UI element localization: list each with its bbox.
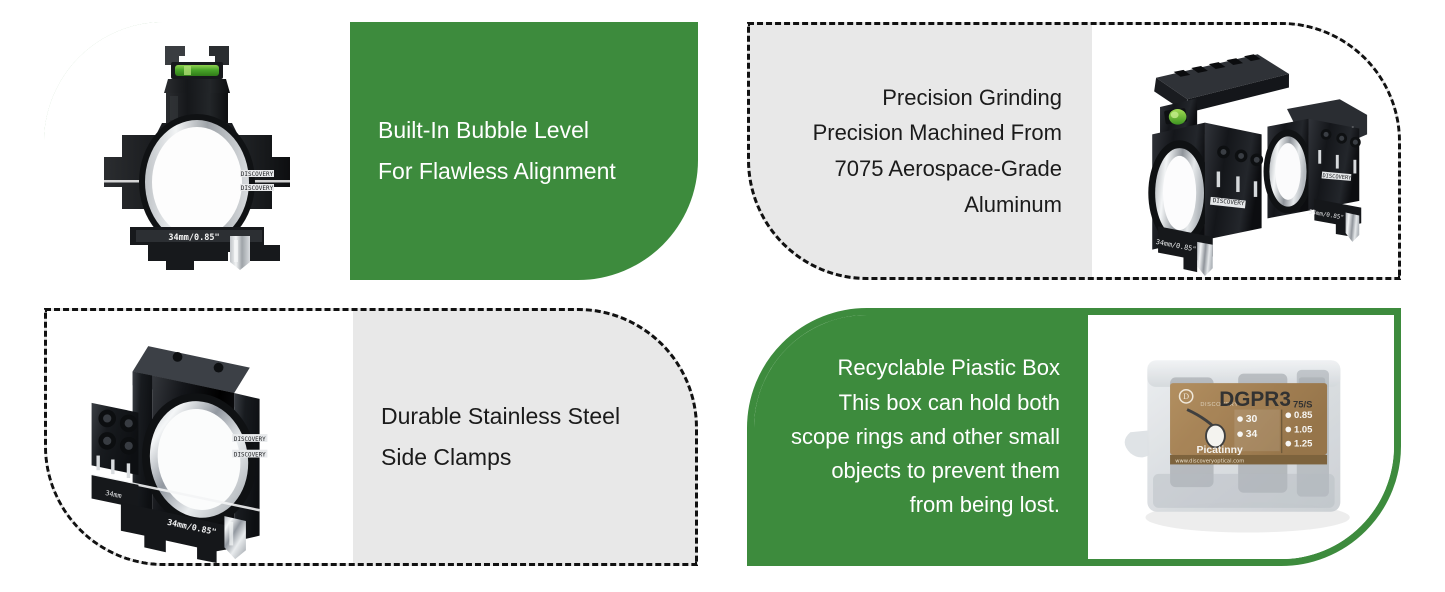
feature-grid: DISCOVERY DISCOVERY 34mm/0.85" Built-In … (0, 0, 1445, 592)
scope-ring-pair-illustration: DISCOVERY 34mm/0.85" (1092, 25, 1398, 277)
svg-text:DISCOVERY: DISCOVERY (241, 171, 274, 178)
caption-line: Durable Stainless Steel (381, 396, 620, 437)
caption-line: from being lost. (910, 488, 1060, 522)
caption-line: Side Clamps (381, 437, 511, 478)
plastic-box-illustration: D DISCOVERY DGPR3 75/S Picatinny 30 (1088, 315, 1394, 559)
caption-line: Built-In Bubble Level (378, 110, 589, 151)
caption-recyclable-box: Recyclable Piastic Box This box can hold… (747, 308, 1088, 566)
caption-line: This box can hold both (839, 386, 1060, 420)
caption-line: For Flawless Alignment (378, 151, 616, 192)
svg-text:DISCOVERY: DISCOVERY (234, 453, 266, 459)
panel-recyclable-box: Recyclable Piastic Box This box can hold… (747, 308, 1401, 566)
scope-ring-bubble-level-illustration: DISCOVERY DISCOVERY 34mm/0.85" (44, 22, 350, 280)
svg-text:DISCOVERY: DISCOVERY (241, 185, 274, 192)
product-photo-recyclable-box: D DISCOVERY DGPR3 75/S Picatinny 30 (1088, 315, 1394, 559)
caption-line: objects to prevent them (831, 454, 1060, 488)
caption-precision-grinding: Precision Grinding Precision Machined Fr… (750, 25, 1092, 277)
panel-side-clamps: 34mm DISCOVERY DISCOVERY 34mm/0.85" Dura… (44, 308, 698, 566)
svg-text:34mm/0.85": 34mm/0.85" (168, 233, 219, 243)
caption-line: Precision Grinding (882, 80, 1062, 116)
caption-line: Aluminum (964, 187, 1062, 223)
scope-ring-side-clamp-illustration: 34mm DISCOVERY DISCOVERY 34mm/0.85" (47, 311, 353, 563)
product-photo-precision-grinding: DISCOVERY 34mm/0.85" (1092, 25, 1398, 277)
svg-text:DISCOVERY: DISCOVERY (234, 437, 266, 443)
panel-bubble-level: DISCOVERY DISCOVERY 34mm/0.85" Built-In … (44, 22, 698, 280)
caption-bubble-level: Built-In Bubble Level For Flawless Align… (350, 22, 698, 280)
panel-precision-grinding: Precision Grinding Precision Machined Fr… (747, 22, 1401, 280)
caption-line: Precision Machined From (813, 115, 1062, 151)
caption-side-clamps: Durable Stainless Steel Side Clamps (353, 311, 695, 563)
caption-line: Recyclable Piastic Box (837, 351, 1060, 385)
product-photo-bubble-level: DISCOVERY DISCOVERY 34mm/0.85" (44, 22, 350, 280)
caption-line: 7075 Aerospace-Grade (835, 151, 1063, 187)
product-photo-side-clamps: 34mm DISCOVERY DISCOVERY 34mm/0.85" (47, 311, 353, 563)
caption-line: scope rings and other small (791, 420, 1060, 454)
